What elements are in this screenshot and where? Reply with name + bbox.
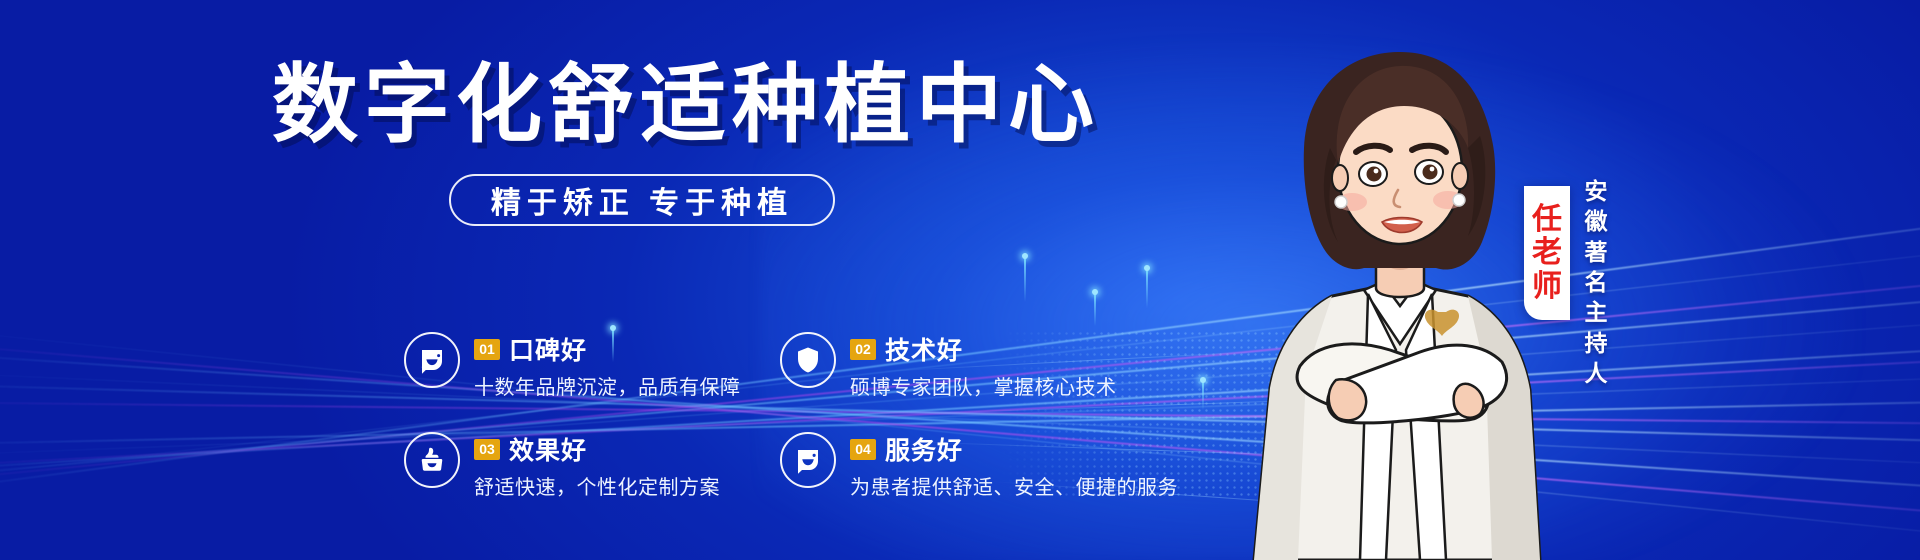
feature-description: 十数年品牌沉淀，品质有保障 (474, 371, 741, 400)
spokesperson-seal: 任 老 师 (1524, 186, 1570, 320)
headline-block: 数字化舒适种植中心 精于矫正 专于种植 (272, 62, 1012, 226)
feature-description: 硕博专家团队，掌握核心技术 (850, 371, 1117, 400)
feature-text: 02 技术好 硕博专家团队，掌握核心技术 (850, 330, 1117, 400)
page-title: 数字化舒适种植中心 (272, 62, 1012, 148)
feature-number-badge: 04 (850, 439, 876, 460)
spokesperson-caption: 安 徽 著 名 主 持 人 (1580, 176, 1614, 389)
feature-number-badge: 01 (474, 339, 500, 360)
feature-row: 03 效果好 舒适快速，个性化定制方案 04 服务好 为患者提供舒适、安全、便捷… (404, 430, 1204, 500)
spokesperson-portrait (1240, 44, 1570, 560)
data-pin-icon (1024, 256, 1026, 302)
seal-char: 师 (1532, 271, 1562, 303)
feature-name: 服务好 (885, 431, 963, 467)
feature-heading: 02 技术好 (850, 331, 1117, 367)
caption-char: 主 (1580, 297, 1614, 327)
feature-name: 口碑好 (509, 331, 587, 367)
subtitle-pill: 精于矫正 专于种植 (449, 174, 835, 226)
feature-number-badge: 02 (850, 339, 876, 360)
feature-item-04[interactable]: 04 服务好 为患者提供舒适、安全、便捷的服务 (780, 430, 1178, 500)
feature-list: 01 口碑好 十数年品牌沉淀，品质有保障 02 技术好 硕博专家团队，掌握核心技… (404, 330, 1204, 500)
data-pin-icon (1094, 292, 1096, 326)
feature-number-badge: 03 (474, 439, 500, 460)
caption-char: 持 (1580, 328, 1614, 358)
caption-char: 人 (1580, 358, 1614, 388)
subtitle-text: 精于矫正 专于种植 (491, 178, 793, 222)
feature-heading: 01 口碑好 (474, 331, 741, 367)
promo-banner: 数字化舒适种植中心 精于矫正 专于种植 01 口碑好 十数年品牌沉淀，品质有保障 (0, 0, 1920, 560)
feature-text: 03 效果好 舒适快速，个性化定制方案 (474, 430, 720, 500)
feature-text: 04 服务好 为患者提供舒适、安全、便捷的服务 (850, 430, 1178, 500)
feature-heading: 04 服务好 (850, 431, 1178, 467)
caption-char: 徽 (1580, 206, 1614, 236)
caption-char: 著 (1580, 237, 1614, 267)
feature-item-01[interactable]: 01 口碑好 十数年品牌沉淀，品质有保障 (404, 330, 780, 400)
smile-face-icon (780, 432, 836, 488)
data-pin-icon (1146, 268, 1148, 308)
portrait-illustration (1240, 44, 1570, 560)
speech-bubble-smile-icon (404, 332, 460, 388)
shield-check-icon (780, 332, 836, 388)
feature-heading: 03 效果好 (474, 431, 720, 467)
caption-char: 名 (1580, 267, 1614, 297)
feature-row: 01 口碑好 十数年品牌沉淀，品质有保障 02 技术好 硕博专家团队，掌握核心技… (404, 330, 1204, 400)
feature-item-02[interactable]: 02 技术好 硕博专家团队，掌握核心技术 (780, 330, 1117, 400)
caption-char: 安 (1580, 176, 1614, 206)
feature-description: 为患者提供舒适、安全、便捷的服务 (850, 471, 1178, 500)
thumbs-up-icon (404, 432, 460, 488)
feature-text: 01 口碑好 十数年品牌沉淀，品质有保障 (474, 330, 741, 400)
feature-description: 舒适快速，个性化定制方案 (474, 471, 720, 500)
feature-item-03[interactable]: 03 效果好 舒适快速，个性化定制方案 (404, 430, 780, 500)
seal-char: 任 (1532, 204, 1562, 236)
feature-name: 效果好 (509, 431, 587, 467)
feature-name: 技术好 (885, 331, 963, 367)
seal-char: 老 (1532, 237, 1562, 269)
